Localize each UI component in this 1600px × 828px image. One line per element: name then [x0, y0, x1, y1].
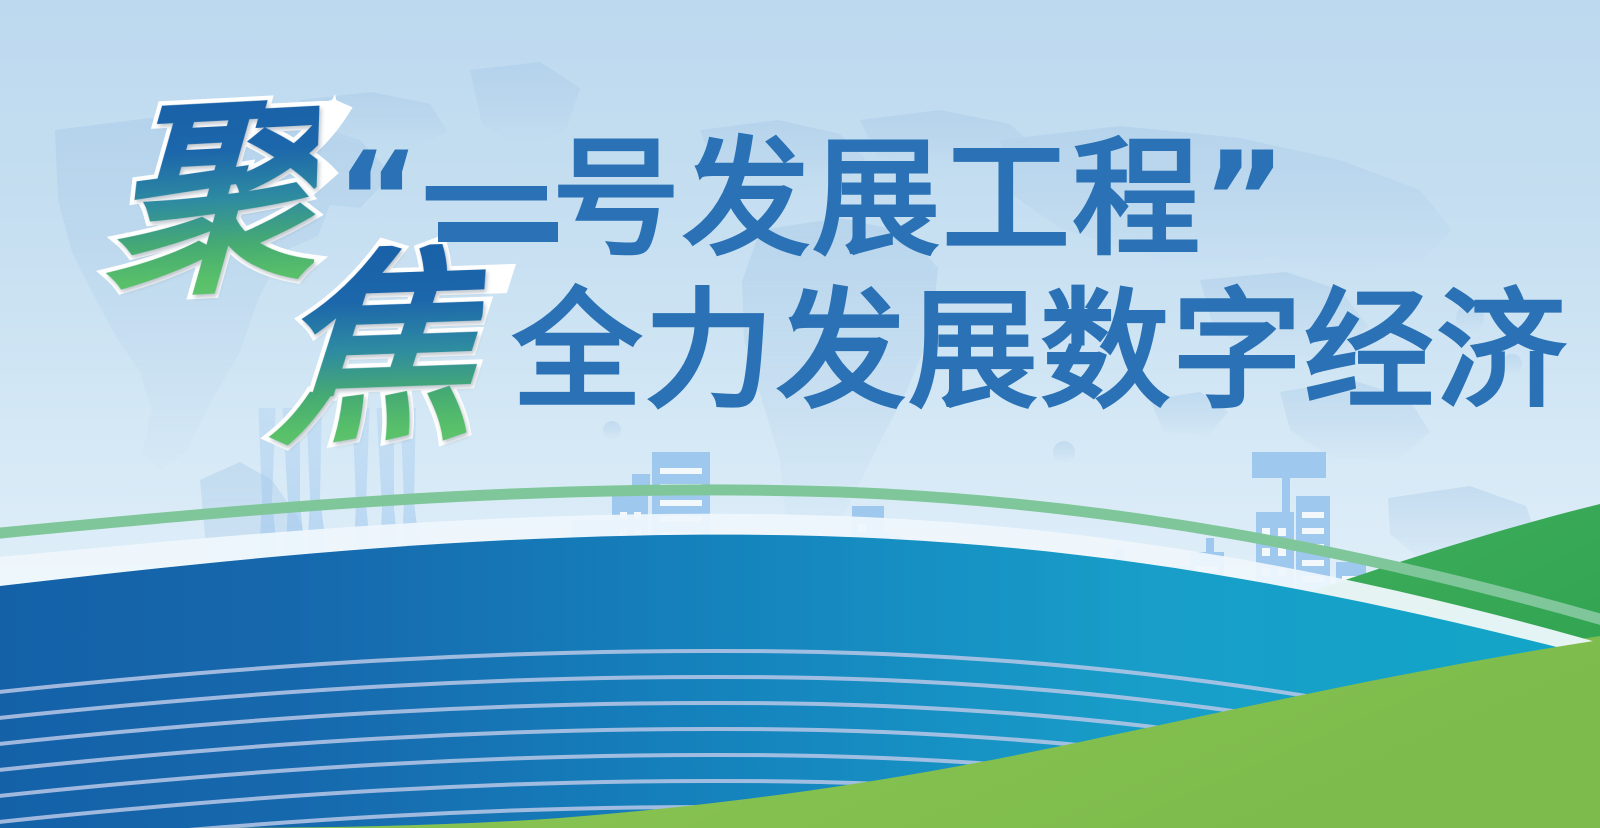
title-line-2: 全力发展数字经济 [512, 286, 1568, 416]
title-line-1: “一号发展工程” [336, 136, 1288, 264]
scenery-illustration [0, 408, 1600, 828]
headline-block: 聚 聚 焦 焦 “一号发展工程” 全力发展数字经济 [0, 0, 1600, 470]
calligraphy-jiao: 焦 [264, 242, 487, 457]
banner-root: 聚 聚 焦 焦 “一号发展工程” 全力发展数字经济 [0, 0, 1600, 828]
